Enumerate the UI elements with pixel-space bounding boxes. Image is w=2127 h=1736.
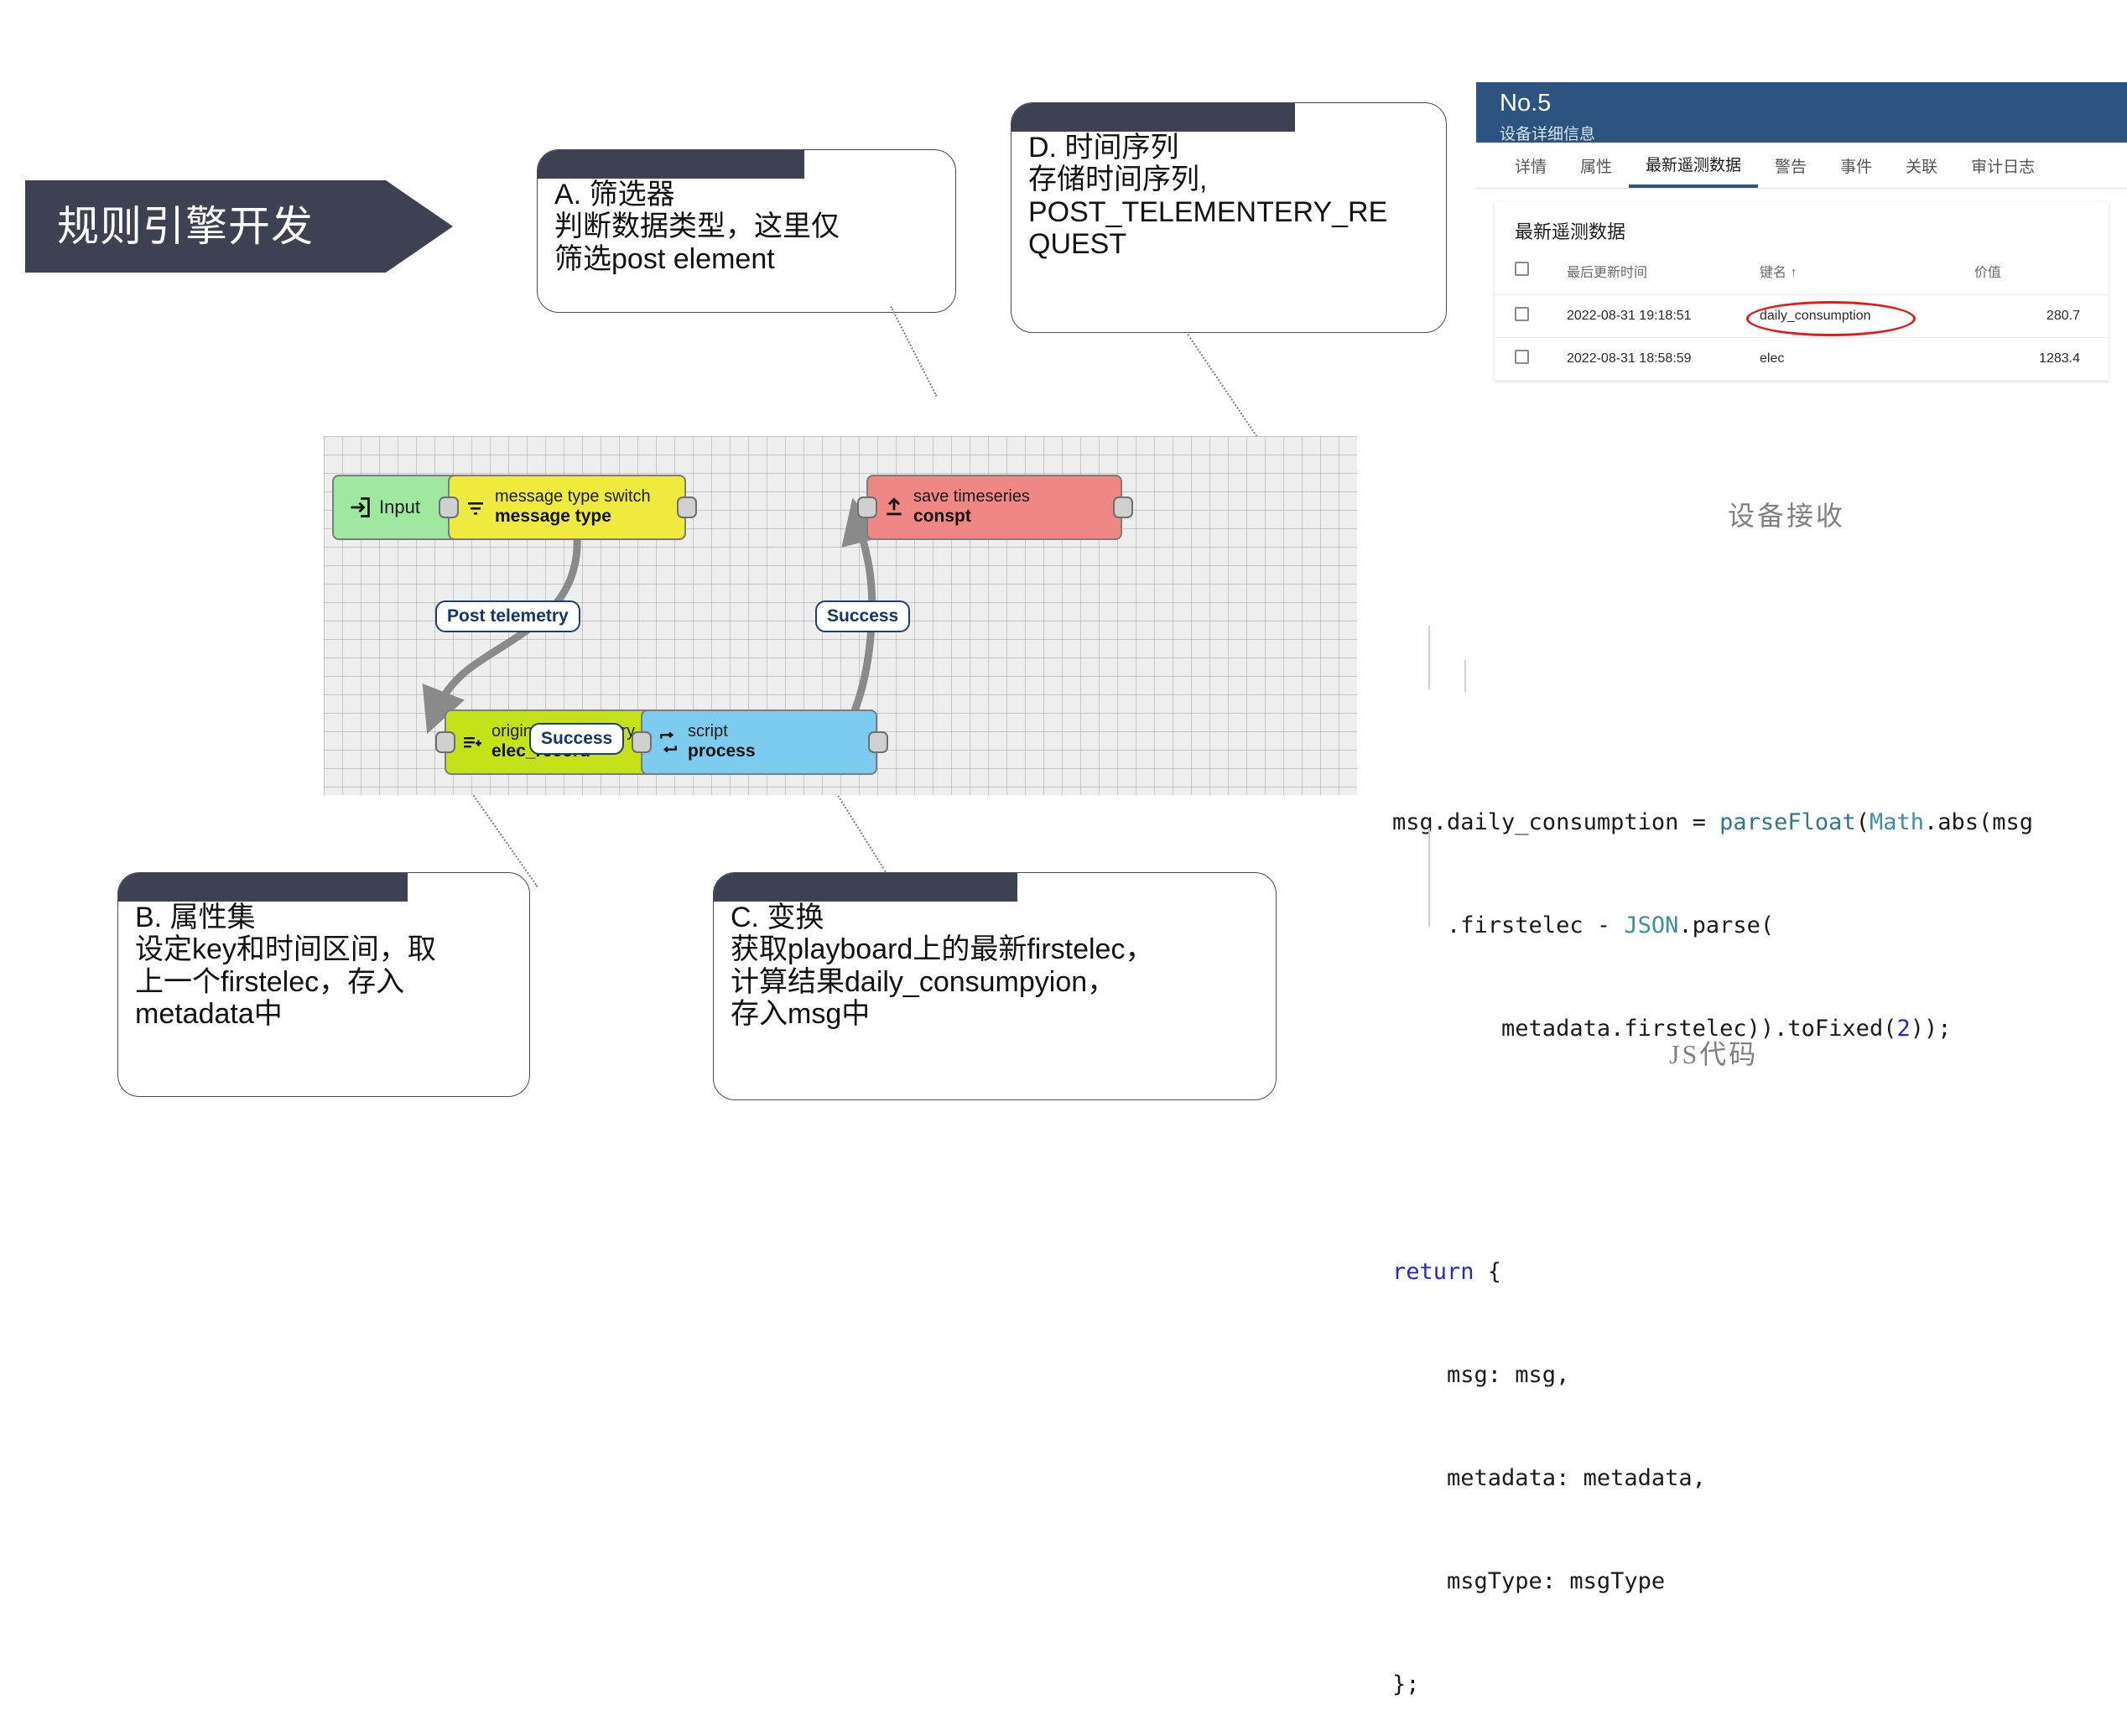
indent-guide-2: [1464, 660, 1466, 692]
upload-icon: [880, 496, 908, 518]
callout-d-line-2: POST_TELEMENTERY_RE: [1028, 196, 1447, 228]
indent-guide-1: [1428, 626, 1430, 689]
row-checkbox[interactable]: [1515, 307, 1529, 321]
callout-b-title: B. 属性集: [135, 902, 524, 933]
callout-a-line-2: 筛选post element: [554, 243, 950, 275]
row-select-cell[interactable]: [1495, 295, 1567, 338]
port-save-in[interactable]: [857, 496, 877, 518]
port-switch-out[interactable]: [677, 496, 697, 518]
rule-node-switch-line-1: message type switch: [495, 487, 651, 507]
code-tok-3a: metadata.firstelec)).toFixed(: [1392, 1016, 1896, 1042]
code-tok-1b: parseFloat: [1719, 809, 1856, 835]
tab-audit-logs[interactable]: 审计日志: [1954, 143, 2052, 188]
page-title-banner: 规则引擎开发: [25, 180, 453, 273]
port-switch-in[interactable]: [439, 496, 459, 518]
page-title: 规则引擎开发: [25, 205, 314, 247]
tab-details[interactable]: 详情: [1498, 143, 1563, 188]
code-line-2: .firstelec - JSON.parse(: [1392, 908, 2114, 943]
callout-box-a: A. 筛选器 判断数据类型，这里仅 筛选post element: [537, 149, 956, 313]
transform-icon: [654, 731, 683, 753]
rule-node-message-type-switch-box[interactable]: message type switch message type: [448, 475, 686, 540]
telemetry-table: 最后更新时间 键名 ↑ 价值 2022-08-31 19:18:51 daily…: [1495, 256, 2109, 381]
rule-node-save-timeseries[interactable]: save timeseries conspt: [866, 475, 1122, 540]
callout-box-d: D. 时间序列 存储时间序列, POST_TELEMENTERY_RE QUES…: [1011, 102, 1447, 333]
row-checkbox[interactable]: [1515, 350, 1529, 364]
rule-node-save-line-2: conspt: [913, 507, 1030, 528]
relation-label-success-top[interactable]: Success: [815, 600, 910, 632]
code-line-3: metadata.firstelec)).toFixed(2));: [1392, 1011, 2114, 1046]
select-all-checkbox[interactable]: [1515, 262, 1529, 276]
select-all-cell[interactable]: [1495, 256, 1567, 295]
code-line-1: msg.daily_consumption = parseFloat(Math.…: [1392, 805, 2114, 839]
code-tok-5b: {: [1474, 1259, 1502, 1285]
telemetry-card-title: 最新遥测数据: [1495, 202, 2109, 256]
code-line-5: return {: [1392, 1255, 2114, 1289]
device-panel-header: No.5 设备详细信息: [1476, 82, 2127, 143]
rule-node-script-box[interactable]: script process: [641, 709, 877, 775]
device-panel-subtitle: 设备详细信息: [1500, 122, 2127, 144]
code-tok-5a: return: [1392, 1259, 1474, 1285]
callout-a-line-1: 判断数据类型，这里仅: [554, 211, 950, 242]
rule-node-script-line-1: script: [688, 722, 756, 742]
code-line-blank: [1392, 1115, 2114, 1185]
rule-node-save-line-1: save timeseries: [913, 487, 1030, 507]
port-script-out[interactable]: [868, 731, 888, 753]
code-line-8: msgType: msgType: [1392, 1564, 2114, 1598]
relation-label-success-mid[interactable]: Success: [529, 723, 624, 755]
code-tok-3b: 2: [1896, 1016, 1910, 1042]
device-number: No.5: [1500, 91, 2127, 117]
callout-c-body: C. 变换 获取playboard上的最新firstelec， 计算结果dail…: [731, 902, 1271, 1031]
code-tok-2a: .firstelec -: [1392, 912, 1624, 938]
cell-value: 280.7: [1974, 295, 2109, 338]
rule-node-input-label: Input: [379, 496, 420, 518]
code-line-9: };: [1392, 1667, 2114, 1702]
column-value[interactable]: 价值: [1974, 256, 2109, 295]
code-tok-1e: .abs(msg: [1924, 809, 2033, 835]
callout-b-header-bar: [118, 873, 408, 902]
tab-events[interactable]: 事件: [1823, 143, 1889, 188]
code-tok-1a: msg.daily_consumption =: [1392, 809, 1719, 835]
callout-c-header-bar: [714, 873, 1017, 902]
code-tok-2c: .parse(: [1678, 912, 1774, 938]
table-row[interactable]: 2022-08-31 19:18:51 daily_consumption 28…: [1495, 295, 2109, 338]
input-arrow-icon: [346, 496, 374, 519]
indent-guide-3: [1428, 828, 1430, 927]
callout-c-line-2: 计算结果daily_consumpyion，: [731, 966, 1271, 998]
rule-node-script-line-2: process: [688, 741, 756, 762]
callout-a-body: A. 筛选器 判断数据类型，这里仅 筛选post element: [554, 179, 950, 275]
callout-b-line-3: metadata中: [135, 998, 524, 1030]
callout-b-line-2: 上一个firstelec，存入: [135, 966, 524, 998]
rule-node-switch-line-2: message type: [495, 507, 651, 528]
cell-value: 1283.4: [1974, 338, 2109, 381]
telemetry-card: 最新遥测数据 最后更新时间 键名 ↑ 价值 2022-08-31 19:1: [1495, 202, 2109, 381]
callout-b-line-1: 设定key和时间区间，取: [135, 933, 524, 965]
device-panel-tabs[interactable]: 详情 属性 最新遥测数据 警告 事件 关联 审计日志: [1476, 143, 2127, 189]
callout-c-line-3: 存入msg中: [731, 998, 1271, 1030]
code-line-7: metadata: metadata,: [1392, 1461, 2114, 1495]
callout-d-header-bar: [1011, 103, 1295, 132]
callout-b-body: B. 属性集 设定key和时间区间，取 上一个firstelec，存入 meta…: [135, 902, 524, 1031]
tab-latest-telemetry[interactable]: 最新遥测数据: [1629, 143, 1758, 188]
leader-a: [890, 306, 937, 397]
tab-relations[interactable]: 关联: [1889, 143, 1954, 188]
code-tok-1d: Math: [1870, 809, 1924, 835]
cell-key-name-text: daily_consumption: [1760, 309, 1871, 323]
filter-icon: [461, 497, 490, 517]
cell-last-update: 2022-08-31 19:18:51: [1567, 295, 1760, 338]
code-tok-2b: JSON: [1624, 912, 1678, 938]
cell-key-name: elec: [1760, 338, 1974, 381]
callout-d-line-3: QUEST: [1028, 228, 1447, 260]
callout-d-body: D. 时间序列 存储时间序列, POST_TELEMENTERY_RE QUES…: [1028, 132, 1447, 261]
device-details-panel: No.5 设备详细信息 详情 属性 最新遥测数据 警告 事件 关联 审计日志 最…: [1476, 82, 2127, 468]
code-line-6: msg: msg,: [1392, 1358, 2114, 1392]
callout-d-line-1: 存储时间序列,: [1028, 164, 1447, 195]
telemetry-list-plus-icon: [458, 732, 486, 752]
column-key-name[interactable]: 键名 ↑: [1760, 256, 1974, 295]
cell-last-update: 2022-08-31 18:58:59: [1567, 338, 1760, 381]
caption-device-receive: 设备接收: [1728, 495, 1845, 533]
callout-box-c: C. 变换 获取playboard上的最新firstelec， 计算结果dail…: [713, 872, 1277, 1100]
tab-attributes[interactable]: 属性: [1563, 143, 1629, 188]
callout-a-title: A. 筛选器: [554, 179, 950, 211]
callout-box-b: B. 属性集 设定key和时间区间，取 上一个firstelec，存入 meta…: [117, 872, 530, 1097]
callout-a-header-bar: [538, 150, 804, 179]
table-row[interactable]: 2022-08-31 18:58:59 elec 1283.4: [1495, 338, 2109, 381]
cell-key-name: daily_consumption: [1760, 295, 1974, 338]
port-script-in[interactable]: [632, 731, 652, 753]
port-origin-in[interactable]: [435, 731, 455, 753]
callout-d-title: D. 时间序列: [1028, 132, 1447, 164]
code-tok-3c: ));: [1911, 1016, 1952, 1042]
relation-label-post-telemetry[interactable]: Post telemetry: [435, 600, 580, 632]
code-tok-1c: (: [1856, 809, 1870, 835]
port-save-out[interactable]: [1113, 496, 1133, 518]
column-last-update[interactable]: 最后更新时间: [1567, 256, 1760, 295]
callout-c-line-1: 获取playboard上的最新firstelec，: [731, 933, 1271, 965]
row-select-cell[interactable]: [1495, 338, 1567, 381]
callout-c-title: C. 变换: [731, 902, 1271, 933]
js-code-block: msg.daily_consumption = parseFloat(Math.…: [1392, 599, 2114, 1736]
rule-chain-canvas[interactable]: Input message type switch message type: [324, 436, 1357, 795]
tab-alarms[interactable]: 警告: [1758, 143, 1823, 188]
table-header-row: 最后更新时间 键名 ↑ 价值: [1495, 256, 2109, 295]
